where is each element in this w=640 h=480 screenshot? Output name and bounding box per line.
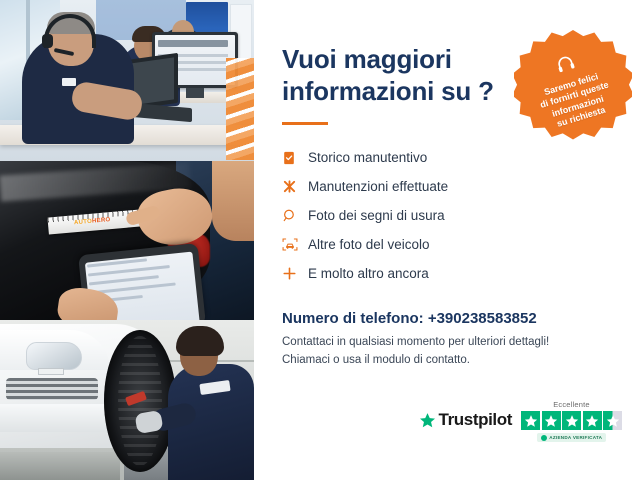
list-item-manutenzioni-effettuate: Manutenzioni effettuate <box>282 172 612 201</box>
content-panel: Vuoi maggiori informazioni su ? Storico … <box>254 0 640 480</box>
list-item-label: Altre foto del veicolo <box>308 237 430 252</box>
availability-badge: Saremo felici di fornirti queste informa… <box>514 30 632 148</box>
feature-list: Storico manutentivo Manutenzioni effettu… <box>282 143 612 288</box>
verified-company-badge: AZIENDA VERIFICATA <box>537 433 606 442</box>
vehicle-lift <box>0 452 120 480</box>
list-item-label: E molto altro ancora <box>308 266 429 281</box>
star-half <box>603 411 622 430</box>
info-promo-banner: AUTOHERO <box>0 0 640 480</box>
orange-decor-panel <box>226 58 254 160</box>
title-divider <box>282 122 328 125</box>
star-filled <box>542 411 561 430</box>
photo-column: AUTOHERO <box>0 0 254 480</box>
list-item-foto-segni-usura: Foto dei segni di usura <box>282 201 612 230</box>
list-item-molto-altro: E molto altro ancora <box>282 259 612 288</box>
trustpilot-logo: Trustpilot <box>419 400 512 430</box>
list-item-label: Manutenzioni effettuate <box>308 179 448 194</box>
trustpilot-rating[interactable]: Trustpilot Eccellente AZIENDA VERIFICATA <box>419 400 622 442</box>
car-scan-icon <box>282 237 308 252</box>
vehicle-inspection-photo: AUTOHERO <box>0 161 254 320</box>
magnifier-icon <box>282 208 308 223</box>
star-filled <box>521 411 540 430</box>
checklist-icon <box>282 151 308 165</box>
tools-icon <box>282 179 308 194</box>
trustpilot-rating-label: Eccellente <box>553 400 590 409</box>
list-item-label: Foto dei segni di usura <box>308 208 445 223</box>
inspector-forearm <box>212 161 254 241</box>
headset-earcup <box>42 34 53 48</box>
verified-check-icon <box>541 435 547 441</box>
star-filled <box>583 411 602 430</box>
mechanic-tire-photo <box>0 320 254 480</box>
mechanic-hair <box>176 326 224 356</box>
contact-description: Contattaci in qualsiasi momento per ulte… <box>282 334 612 370</box>
trustpilot-wordmark: Trustpilot <box>439 410 512 430</box>
monitor-stand <box>186 88 204 98</box>
contact-description-line-1: Contattaci in qualsiasi momento per ulte… <box>282 334 612 352</box>
trustpilot-star-icon <box>419 412 436 429</box>
phone-number[interactable]: Numero di telefono: +390238583852 <box>282 310 612 327</box>
verified-label: AZIENDA VERIFICATA <box>549 435 602 440</box>
car-grille <box>6 378 98 400</box>
car-headlight <box>26 342 82 370</box>
list-item-label: Storico manutentivo <box>308 150 427 165</box>
list-item-altre-foto-veicolo: Altre foto del veicolo <box>282 230 612 259</box>
trustpilot-score-block: Eccellente AZIENDA VERIFICATA <box>521 400 622 442</box>
plus-icon <box>282 266 308 281</box>
monitor-screen-header <box>158 40 228 47</box>
car-badge <box>38 368 64 375</box>
trustpilot-stars <box>521 411 622 430</box>
car-bumper <box>0 404 120 432</box>
agent-name-badge <box>62 78 76 86</box>
call-center-agent-photo <box>0 0 254 161</box>
contact-description-line-2: Chiamaci o usa il modulo di contatto. <box>282 352 612 370</box>
star-filled <box>562 411 581 430</box>
